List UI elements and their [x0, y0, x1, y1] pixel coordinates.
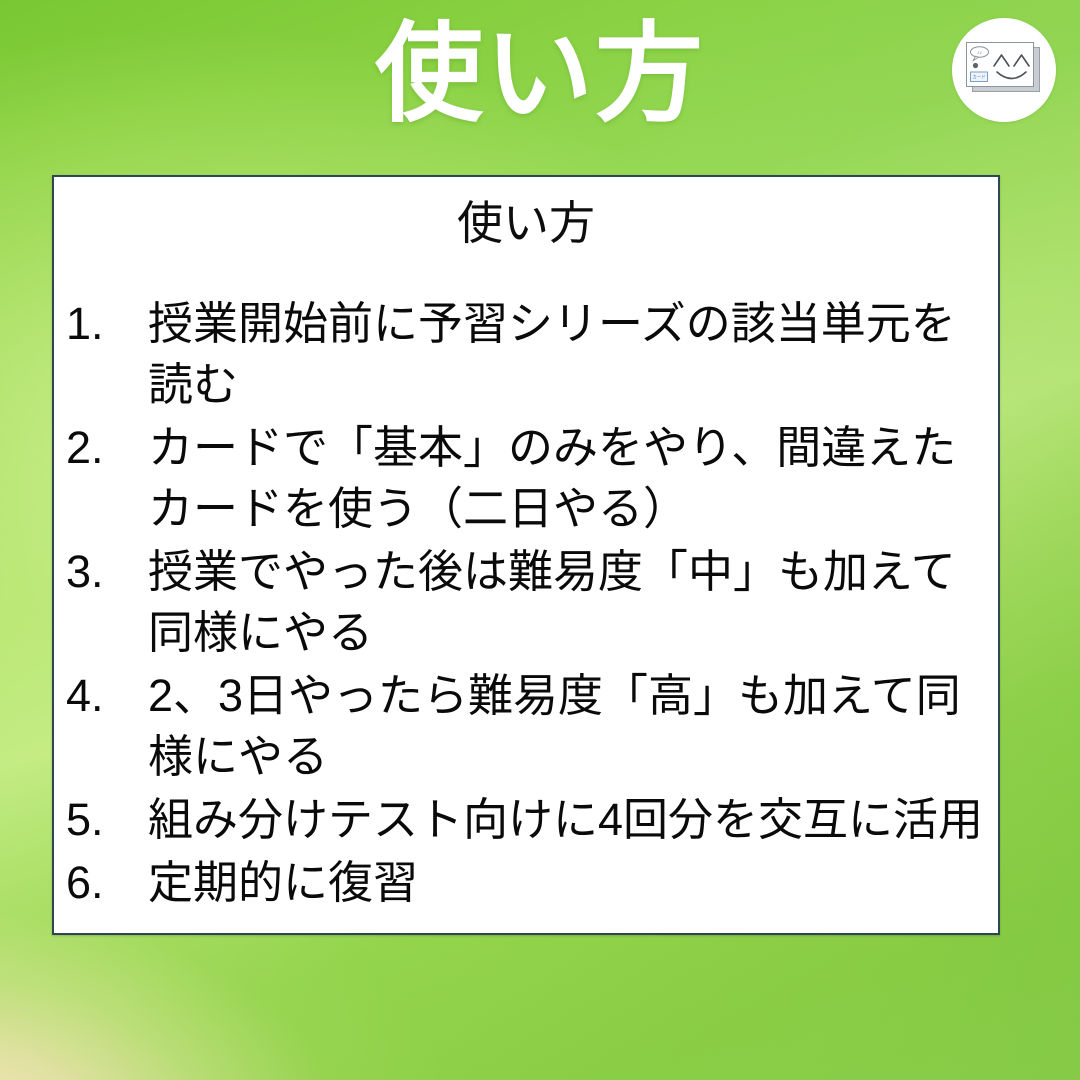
list-item-text: 定期的に復習 — [148, 852, 990, 913]
slide-root: 使い方 ♪♪ カード — [0, 0, 1080, 1080]
logo-badge: ♪♪ カード — [952, 18, 1056, 122]
card-heading: 使い方 — [54, 177, 998, 251]
smiling-flashcard-logo-icon: ♪♪ カード — [966, 42, 1040, 92]
list-item-text: カードで「基本」のみをやり、間違えたカードを使う（二日やる） — [148, 417, 990, 539]
svg-text:♪♪: ♪♪ — [977, 50, 983, 56]
content-card: 使い方 1. 授業開始前に予習シリーズの該当単元を読む 2. カードで「基本」の… — [52, 175, 1000, 935]
logo-face-drawing: ♪♪ カード — [966, 42, 1040, 92]
list-item: 2. カードで「基本」のみをやり、間違えたカードを使う（二日やる） — [60, 417, 990, 539]
list-item: 4. 2、3日やったら難易度「高」も加えて同様にやる — [60, 665, 990, 787]
slide-header: 使い方 ♪♪ カード — [0, 0, 1080, 170]
steps-list: 1. 授業開始前に予習シリーズの該当単元を読む 2. カードで「基本」のみをやり… — [54, 251, 998, 913]
list-item-number: 6. — [60, 852, 148, 913]
page-title: 使い方 — [0, 12, 1080, 136]
list-item-text: 授業開始前に予習シリーズの該当単元を読む — [148, 293, 990, 415]
list-item: 1. 授業開始前に予習シリーズの該当単元を読む — [60, 293, 990, 415]
list-item-number: 2. — [60, 417, 148, 478]
list-item-number: 3. — [60, 541, 148, 602]
list-item-number: 1. — [60, 293, 148, 354]
list-item-number: 5. — [60, 789, 148, 850]
list-item: 3. 授業でやった後は難易度「中」も加えて同様にやる — [60, 541, 990, 663]
list-item-text: 組み分けテスト向けに4回分を交互に活用 — [148, 789, 990, 850]
list-item: 6. 定期的に復習 — [60, 852, 990, 913]
list-item-text: 授業でやった後は難易度「中」も加えて同様にやる — [148, 541, 990, 663]
list-item-text: 2、3日やったら難易度「高」も加えて同様にやる — [148, 665, 990, 787]
list-item-number: 4. — [60, 665, 148, 726]
list-item: 5. 組み分けテスト向けに4回分を交互に活用 — [60, 789, 990, 850]
